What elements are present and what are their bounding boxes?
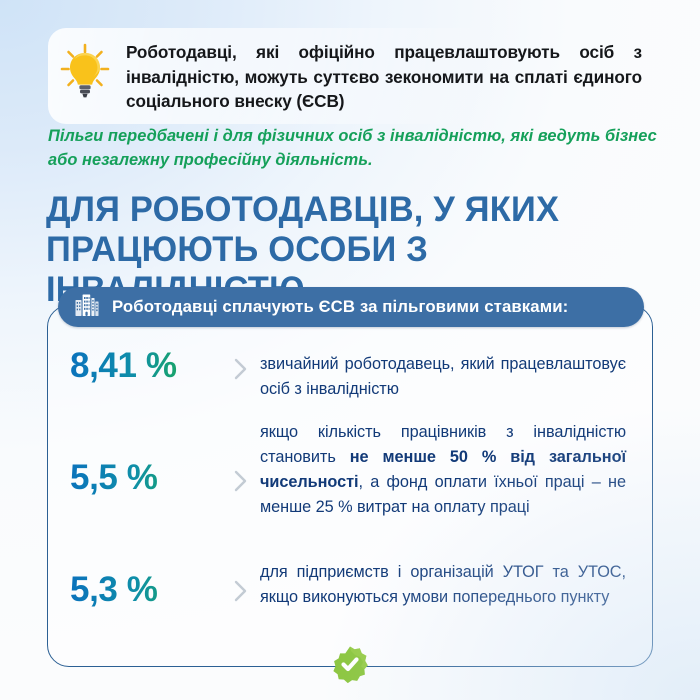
- rate-description: якщо кількість працівників з інвалідніст…: [260, 414, 626, 520]
- rates-card-header: Роботодавці сплачують ЄСВ за пільговими …: [58, 287, 644, 327]
- rate-row: 8,41 % звичайний роботодавець, який прац…: [48, 340, 652, 414]
- eligibility-note: Пільги передбачені і для фізичних осіб з…: [48, 124, 662, 172]
- chevron-right-icon: [222, 554, 260, 604]
- building-icon: [74, 292, 100, 323]
- rate-description-part: для підприємств і організацій УТОГ та УТ…: [260, 563, 626, 606]
- chevron-right-icon: [222, 414, 260, 494]
- rate-row: 5,3 % для підприємств і організацій УТОГ…: [48, 554, 652, 654]
- rate-description: для підприємств і організацій УТОГ та УТ…: [260, 554, 626, 610]
- rate-description: звичайний роботодавець, який працевлашто…: [260, 340, 626, 402]
- lightbulb-icon: [56, 40, 114, 102]
- infographic-poster: Роботодавці, які офіційно працевлаштовую…: [0, 0, 700, 700]
- rate-description-part: звичайний роботодавець, який працевлашто…: [260, 355, 626, 398]
- rates-card-header-title: Роботодавці сплачують ЄСВ за пільговими …: [112, 297, 568, 317]
- rate-row: 5,5 % якщо кількість працівників з інвал…: [48, 414, 652, 554]
- rate-value: 5,3 %: [66, 554, 222, 610]
- green-check-badge-icon: [330, 645, 370, 689]
- callout-text: Роботодавці, які офіційно працевлаштовую…: [126, 38, 646, 114]
- rate-value: 8,41 %: [66, 340, 222, 386]
- rate-value: 5,5 %: [66, 414, 222, 498]
- rates-card: Роботодавці сплачують ЄСВ за пільговими …: [47, 305, 653, 667]
- chevron-right-icon: [222, 340, 260, 382]
- callout-panel: Роботодавці, які офіційно працевлаштовую…: [48, 28, 654, 124]
- rates-list: 8,41 % звичайний роботодавець, який прац…: [48, 340, 652, 654]
- page-title-line-1: ДЛЯ РОБОТОДАВЦІВ, У ЯКИХ: [46, 190, 665, 230]
